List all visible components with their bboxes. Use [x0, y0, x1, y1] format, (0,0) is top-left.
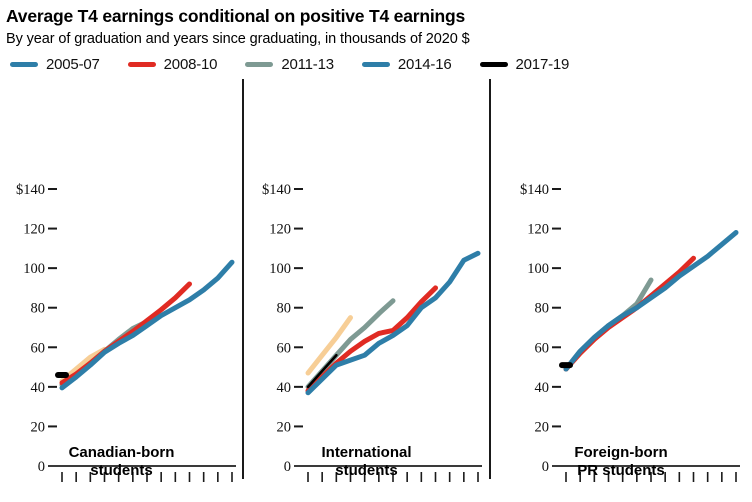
panel-caption-line2-1: students — [0, 462, 243, 481]
y-axis-label-60: 60 — [277, 340, 292, 356]
panel-1: $14012010080604020024681012Canadian-born… — [0, 79, 243, 485]
y-axis-label-60: 60 — [31, 340, 46, 356]
legend-swatch-2014-16 — [362, 62, 390, 67]
legend-label-2011-13: 2011-13 — [281, 56, 334, 73]
legend-item-2008-10[interactable]: 2008-10 — [128, 56, 218, 73]
page-title: Average T4 earnings conditional on posit… — [6, 6, 752, 27]
y-axis-label-100: 100 — [269, 261, 291, 277]
series-line-2008-10 — [62, 284, 190, 383]
legend-item-2005-07[interactable]: 2005-07 — [10, 56, 100, 73]
y-axis-label-20: 20 — [31, 420, 46, 436]
legend-swatch-2017-19 — [480, 62, 508, 67]
legend-label-2014-16: 2014-16 — [398, 56, 452, 73]
legend-label-2008-10: 2008-10 — [164, 56, 218, 73]
y-axis-label-20: 20 — [277, 420, 292, 436]
chart-legend: 2005-072008-102011-132014-162017-19 — [0, 56, 752, 73]
panel-2: $14012010080604020024681012International… — [243, 79, 490, 485]
legend-item-2014-16[interactable]: 2014-16 — [362, 56, 452, 73]
y-axis-label-20: 20 — [535, 420, 550, 436]
panel-caption-line2-2: students — [243, 462, 490, 481]
series-point-2017-19 — [55, 372, 69, 378]
chart-panels: $14012010080604020024681012Canadian-born… — [0, 79, 752, 485]
legend-swatch-2011-13 — [245, 62, 273, 67]
legend-label-2005-07: 2005-07 — [46, 56, 100, 73]
y-axis-label-120: 120 — [269, 222, 291, 238]
panel-caption-line1-2: International — [243, 444, 490, 463]
panel-caption-line1-1: Canadian-born — [0, 444, 243, 463]
legend-swatch-2008-10 — [128, 62, 156, 67]
chart-subtitle: By year of graduation and years since gr… — [6, 30, 752, 48]
chart-header: Average T4 earnings conditional on posit… — [0, 0, 752, 48]
y-axis-label-60: 60 — [535, 340, 550, 356]
series-line-2005-07 — [566, 233, 736, 370]
series-point-2017-19 — [559, 362, 573, 368]
y-axis-label-40: 40 — [31, 380, 46, 396]
panel-caption-2: Internationalstudents — [243, 444, 490, 482]
legend-item-2017-19[interactable]: 2017-19 — [480, 56, 570, 73]
y-axis-label-40: 40 — [535, 380, 550, 396]
series-line-2005-07 — [62, 262, 232, 388]
panel-caption-3: Foreign-bornPR students — [490, 444, 752, 482]
legend-label-2017-19: 2017-19 — [516, 56, 570, 73]
y-axis-label-100: 100 — [527, 261, 549, 277]
panel-caption-line1-3: Foreign-born — [490, 444, 752, 463]
legend-item-2011-13[interactable]: 2011-13 — [245, 56, 334, 73]
y-axis-label-140: $140 — [16, 182, 45, 198]
y-axis-label-140: $140 — [520, 182, 549, 198]
legend-swatch-2005-07 — [10, 62, 38, 67]
panel-plot-3: $14012010080604020024681012 — [490, 79, 752, 485]
panel-caption-1: Canadian-bornstudents — [0, 444, 243, 482]
y-axis-label-80: 80 — [31, 301, 46, 317]
panel-caption-line2-3: PR students — [490, 462, 752, 481]
y-axis-label-80: 80 — [277, 301, 292, 317]
panel-3: $14012010080604020024681012Foreign-bornP… — [490, 79, 752, 485]
y-axis-label-40: 40 — [277, 380, 292, 396]
y-axis-label-120: 120 — [527, 222, 549, 238]
y-axis-label-140: $140 — [262, 182, 291, 198]
panel-plot-1: $14012010080604020024681012 — [0, 79, 243, 485]
series-line-2005-07 — [308, 253, 478, 392]
y-axis-label-100: 100 — [23, 261, 45, 277]
y-axis-label-120: 120 — [23, 222, 45, 238]
panel-plot-2: $14012010080604020024681012 — [243, 79, 490, 485]
y-axis-label-80: 80 — [535, 301, 550, 317]
